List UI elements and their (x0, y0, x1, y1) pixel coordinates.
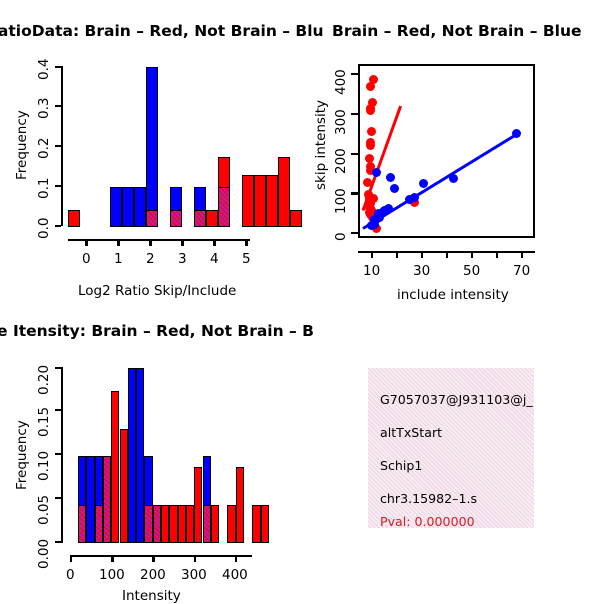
data-point-blue (410, 193, 419, 202)
intensity-hist-xtick-400 (235, 555, 237, 562)
scatter-xlabel-10: 10 (363, 263, 380, 279)
ratio-hist-xlabel-4: 4 (210, 251, 219, 267)
scatter-xlabel-50: 50 (463, 263, 480, 279)
scatter-xtick-10 (371, 251, 373, 258)
data-point-red (363, 178, 372, 187)
bar-red (211, 505, 219, 543)
bar-purple (146, 210, 158, 227)
bar-red (169, 505, 177, 543)
scatter-xlabel-70: 70 (513, 263, 530, 279)
annotation-line-locus: chr3.15982–1.s (380, 491, 477, 506)
bar-purple (78, 505, 86, 543)
bar-red (194, 467, 202, 543)
bar-purple (144, 505, 152, 543)
bar-blue (136, 368, 144, 543)
intensity-hist-xlabel-400: 400 (222, 567, 248, 583)
bar-purple (153, 505, 161, 543)
scatter-ylabel-200: 200 (333, 148, 349, 174)
ratio-hist-x-axis-title: Log2 Ratio Skip/Include (78, 283, 236, 299)
figure-canvas: RatioData: Brain – Red, Not Brain – Blu … (0, 0, 600, 600)
annotation-box: G7057037@J931103@j_ altTxStart Schip1 ch… (368, 368, 534, 528)
bar-red (236, 467, 244, 543)
scatter-ylabel-300: 300 (333, 109, 349, 135)
ratio-hist-xlabel-0: 0 (82, 251, 91, 267)
data-point-red (366, 141, 375, 150)
scatter-xlabel-30: 30 (413, 263, 430, 279)
intensity-hist-xlabel-200: 200 (140, 567, 166, 583)
bar-blue (86, 456, 94, 544)
ratio-hist-xlabel-3: 3 (178, 251, 187, 267)
bar-red (242, 175, 254, 227)
data-point-red (366, 106, 375, 115)
bar-red (266, 175, 278, 227)
scatter-ytick-300 (351, 113, 358, 115)
bar-red (261, 505, 269, 543)
intensity-hist-xlabel-0: 0 (66, 567, 75, 583)
intensity-hist-x-axis-title: Intensity (122, 588, 181, 604)
bar-red (278, 157, 290, 227)
bar-red (68, 210, 80, 227)
bar-red (111, 391, 119, 543)
data-point-blue (512, 129, 521, 138)
ratio-hist-xlabel-2: 2 (146, 251, 155, 267)
bar-purple (170, 210, 182, 227)
ratio-hist-xlabel-1: 1 (114, 251, 123, 267)
bar-red (252, 505, 260, 543)
bar-purple (103, 456, 111, 544)
scatter-ylabel-0: 0 (333, 232, 349, 241)
ratio-hist-xtick-2 (149, 239, 151, 246)
panel-ratio-histogram: RatioData: Brain – Red, Not Brain – Blu … (0, 0, 300, 300)
scatter-ylabel-400: 400 (333, 69, 349, 95)
scatter-title: Brain – Red, Not Brain – Blue (332, 22, 582, 40)
data-point-blue (390, 184, 399, 193)
bar-purple (95, 505, 103, 543)
bar-purple (203, 505, 211, 543)
scatter-xtick-30 (421, 251, 423, 258)
bar-red (120, 429, 128, 543)
ratio-hist-x-axis (68, 239, 250, 241)
bar-purple (194, 210, 206, 227)
scatter-ylabel-100: 100 (333, 188, 349, 214)
intensity-hist-xlabel-100: 100 (99, 567, 125, 583)
ratio-hist-xtick-3 (181, 239, 183, 246)
data-point-blue (449, 174, 458, 183)
scatter-ytick-0 (351, 232, 358, 234)
scatter-data-region (360, 66, 533, 236)
bar-blue (122, 187, 134, 227)
intensity-hist-xtick-100 (111, 555, 113, 562)
bar-purple (218, 187, 230, 227)
intensity-hist-xtick-200 (152, 555, 154, 562)
intensity-hist-xlabel-300: 300 (181, 567, 207, 583)
annotation-line-event-type: altTxStart (380, 425, 442, 440)
bar-red (227, 505, 235, 543)
data-point-blue (370, 220, 379, 229)
panel-intensity-scatter: Brain – Red, Not Brain – Blue (300, 0, 600, 300)
bar-red (254, 175, 266, 227)
bar-red (186, 505, 194, 543)
scatter-xtick-40 (446, 251, 448, 258)
data-point-red (367, 127, 376, 136)
bar-blue (128, 368, 136, 543)
scatter-xtick-50 (471, 251, 473, 258)
panel-annotation: G7057037@J931103@j_ altTxStart Schip1 ch… (300, 300, 600, 600)
ratio-hist-xtick-1 (117, 239, 119, 246)
intensity-hist-xtick-300 (194, 555, 196, 562)
bar-blue (134, 187, 146, 227)
intensity-hist-x-axis (70, 555, 252, 557)
panel-intensity-histogram: ne Itensity: Brain – Red, Not Brain – B … (0, 300, 300, 600)
annotation-line-gene-symbol: Schip1 (380, 458, 422, 473)
scatter-xtick-20 (396, 251, 398, 258)
scatter-ytick-100 (351, 192, 358, 194)
bar-blue (146, 67, 158, 227)
ratio-hist-xtick-0 (85, 239, 87, 246)
bar-red (161, 505, 169, 543)
scatter-xtick-70 (521, 251, 523, 258)
annotation-line-pvalue: Pval: 0.000000 (380, 514, 475, 529)
intensity-hist-xtick-0 (70, 555, 72, 562)
scatter-ytick-400 (351, 73, 358, 75)
scatter-y-axis-title: skip intensity (313, 100, 329, 190)
data-point-red (366, 82, 375, 91)
ratio-hist-xtick-5 (245, 239, 247, 246)
data-point-blue (386, 173, 395, 182)
ratio-hist-xtick-4 (213, 239, 215, 246)
data-point-blue (372, 168, 381, 177)
scatter-ytick-200 (351, 153, 358, 155)
bar-red (178, 505, 186, 543)
scatter-xtick-60 (496, 251, 498, 258)
bar-red (206, 210, 218, 227)
ratio-hist-xlabel-5: 5 (242, 251, 251, 267)
annotation-line-event-id: G7057037@J931103@j_ (380, 392, 533, 407)
bar-blue (110, 187, 122, 227)
